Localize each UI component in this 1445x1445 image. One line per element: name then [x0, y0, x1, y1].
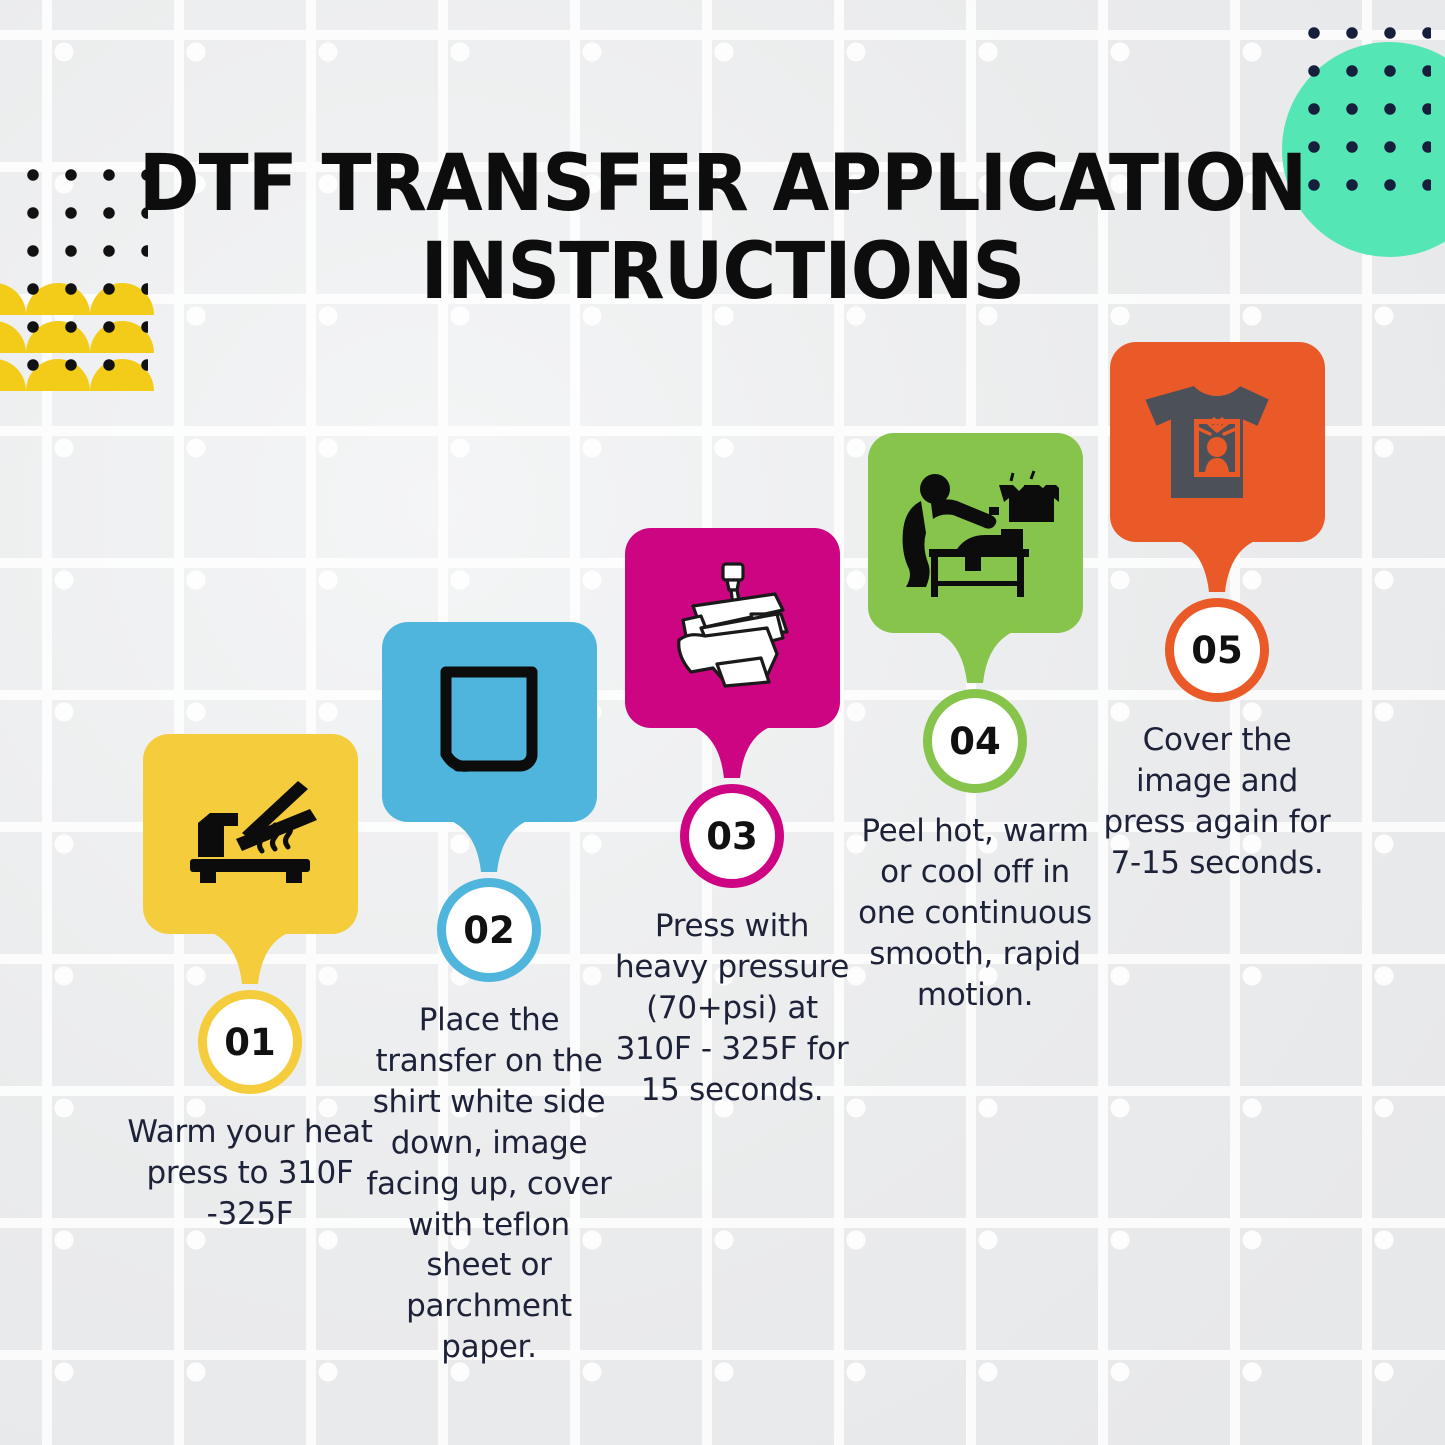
step-05-number-badge[interactable]: 05 — [1165, 598, 1269, 702]
step-01-number: 01 — [224, 1021, 276, 1064]
step-05-description: Cover the image and press again for 7-15… — [1093, 720, 1341, 884]
step-05-number: 05 — [1191, 629, 1243, 672]
step-01-description: Warm your heat press to 310F -325F — [126, 1112, 374, 1235]
step-02: 02 Place the transfer on the shirt white… — [365, 622, 613, 1368]
printed-tshirt-icon — [1142, 377, 1292, 507]
transfer-sheet-icon — [430, 662, 548, 782]
heat-press-machine-icon — [657, 558, 807, 698]
step-04-number-badge[interactable]: 04 — [923, 689, 1027, 793]
step-02-description: Place the transfer on the shirt white si… — [365, 1000, 613, 1368]
peel-transfer-icon — [891, 463, 1059, 603]
step-04: 04 Peel hot, warm or cool off in one con… — [851, 433, 1099, 1016]
step-02-number-badge[interactable]: 02 — [437, 878, 541, 982]
step-03-card[interactable] — [625, 528, 840, 728]
step-04-connector — [952, 625, 998, 687]
page-title: DTF TRANSFER APPLICATION INSTRUCTIONS — [43, 140, 1401, 316]
step-03: 03 Press with heavy pressure (70+psi) at… — [608, 528, 856, 1111]
step-01-card[interactable] — [143, 734, 358, 934]
step-01-number-badge[interactable]: 01 — [198, 990, 302, 1094]
step-04-description: Peel hot, warm or cool off in one contin… — [851, 811, 1099, 1016]
page-title-line-2: INSTRUCTIONS — [43, 228, 1401, 316]
step-04-card[interactable] — [868, 433, 1083, 633]
step-05-card[interactable] — [1110, 342, 1325, 542]
step-03-number-badge[interactable]: 03 — [680, 784, 784, 888]
heat-press-icon — [180, 779, 320, 889]
step-05-connector — [1194, 534, 1240, 596]
step-03-description: Press with heavy pressure (70+psi) at 31… — [608, 906, 856, 1111]
step-03-connector — [709, 720, 755, 782]
step-03-number: 03 — [706, 815, 758, 858]
step-02-connector — [466, 814, 512, 876]
infographic-poster: DTF TRANSFER APPLICATION INSTRUCTIONS — [0, 0, 1445, 1445]
step-02-number: 02 — [463, 909, 515, 952]
step-02-card[interactable] — [382, 622, 597, 822]
step-01: 01 Warm your heat press to 310F -325F — [126, 734, 374, 1235]
step-05: 05 Cover the image and press again for 7… — [1093, 342, 1341, 884]
page-title-line-1: DTF TRANSFER APPLICATION — [43, 140, 1401, 228]
step-01-connector — [227, 926, 273, 988]
step-04-number: 04 — [949, 720, 1001, 763]
